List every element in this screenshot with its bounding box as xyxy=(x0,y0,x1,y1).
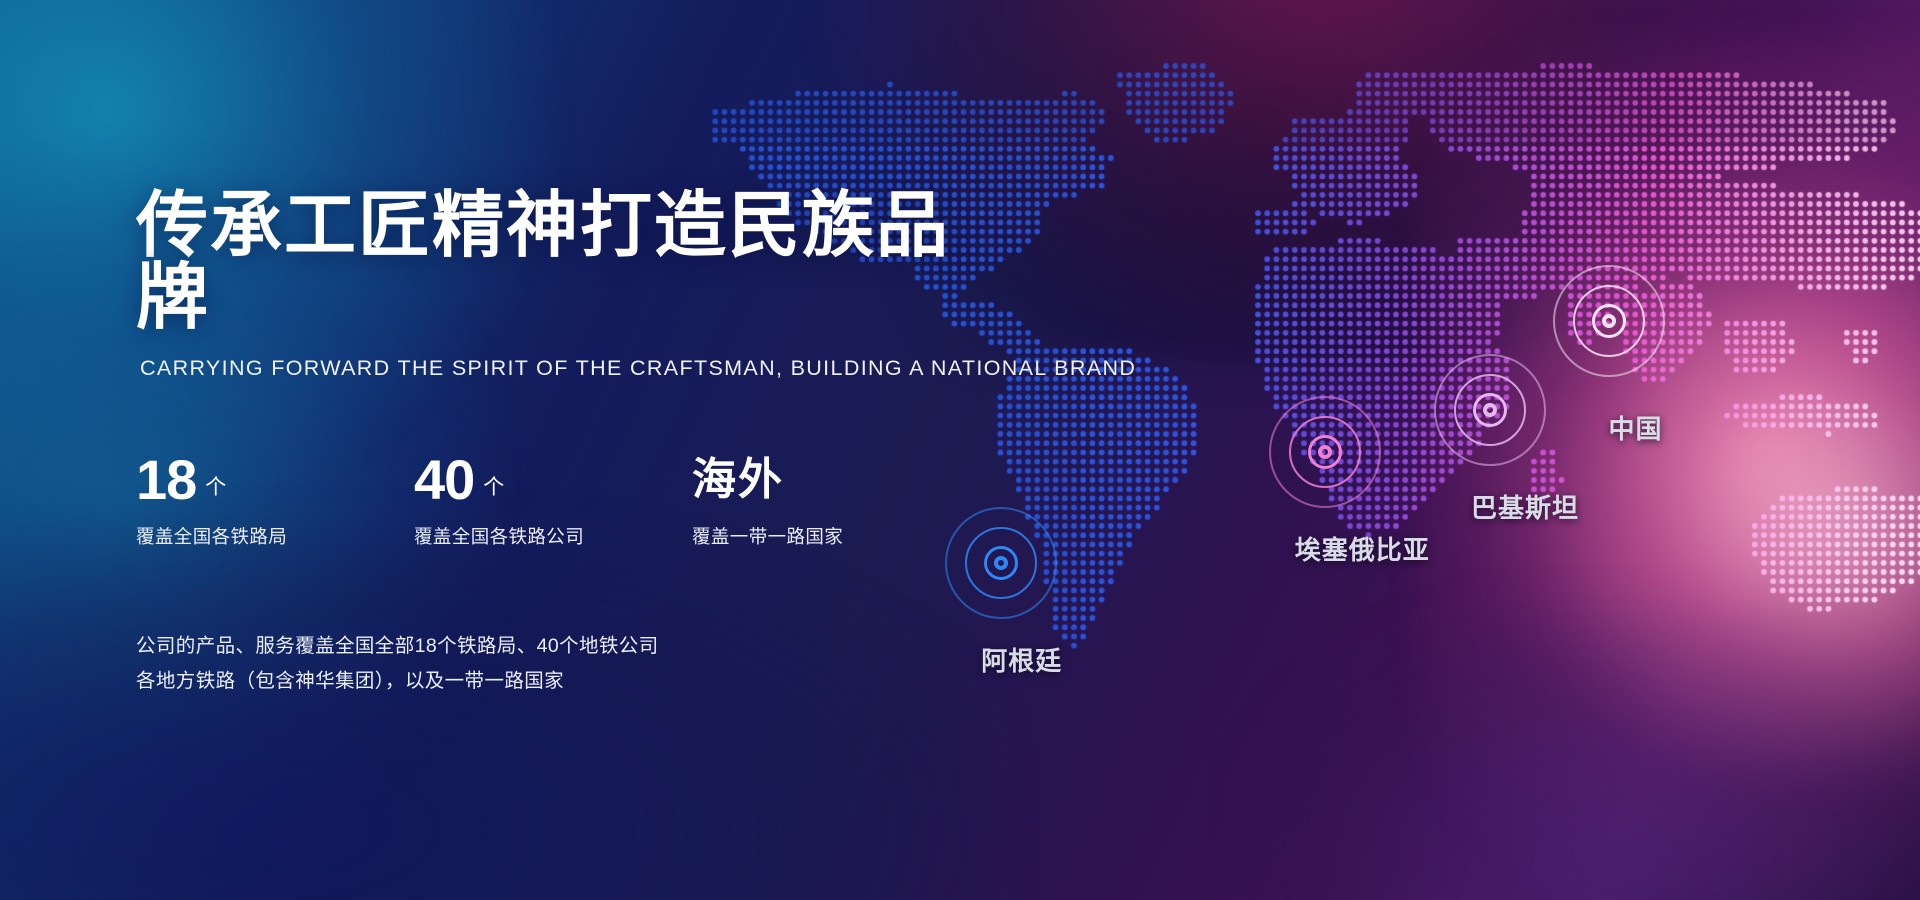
map-marker-label: 巴基斯坦 xyxy=(1471,488,1579,525)
page-title: 传承工匠精神打造民族品牌 xyxy=(136,190,1016,334)
stats-row: 18 个 覆盖全国各铁路局 40 个 覆盖全国各铁路公司 海外 覆盖一带一路国家 xyxy=(136,453,1016,549)
stat-item-overseas: 海外 覆盖一带一路国家 xyxy=(692,453,843,549)
stat-description: 覆盖一带一路国家 xyxy=(692,523,843,549)
stat-value-row: 18 个 xyxy=(136,453,414,517)
stat-item-railway-bureaus: 18 个 覆盖全国各铁路局 xyxy=(136,453,414,549)
description-line-2: 各地方铁路（包含神华集团），以及一带一路国家 xyxy=(136,664,1016,699)
stat-value-row: 40 个 xyxy=(414,453,692,517)
stat-description: 覆盖全国各铁路公司 xyxy=(414,523,692,549)
description-paragraph: 公司的产品、服务覆盖全国全部18个铁路局、40个地铁公司 各地方铁路（包含神华集… xyxy=(136,629,1016,700)
marker-ring-icon xyxy=(1602,314,1616,328)
stat-description: 覆盖全国各铁路局 xyxy=(136,523,414,549)
map-marker-label: 中国 xyxy=(1609,409,1663,446)
page-subtitle: CARRYING FORWARD THE SPIRIT OF THE CRAFT… xyxy=(140,356,1016,381)
stat-value-row: 海外 xyxy=(692,453,843,517)
stat-item-railway-companies: 40 个 覆盖全国各铁路公司 xyxy=(414,453,692,549)
marker-ring-icon xyxy=(1318,445,1332,459)
marker-ring-icon xyxy=(1483,403,1497,417)
banner-content: 传承工匠精神打造民族品牌 CARRYING FORWARD THE SPIRIT… xyxy=(136,190,1016,700)
map-marker-label: 埃塞俄比亚 xyxy=(1295,530,1430,567)
hero-banner: 中国巴基斯坦埃塞俄比亚阿根廷 传承工匠精神打造民族品牌 CARRYING FOR… xyxy=(0,0,1920,900)
stat-unit: 个 xyxy=(483,471,504,501)
stat-number: 18 xyxy=(136,453,196,508)
stat-unit: 个 xyxy=(205,471,226,501)
stat-number: 海外 xyxy=(692,453,784,507)
stat-number: 40 xyxy=(414,453,474,508)
description-line-1: 公司的产品、服务覆盖全国全部18个铁路局、40个地铁公司 xyxy=(136,629,1016,664)
